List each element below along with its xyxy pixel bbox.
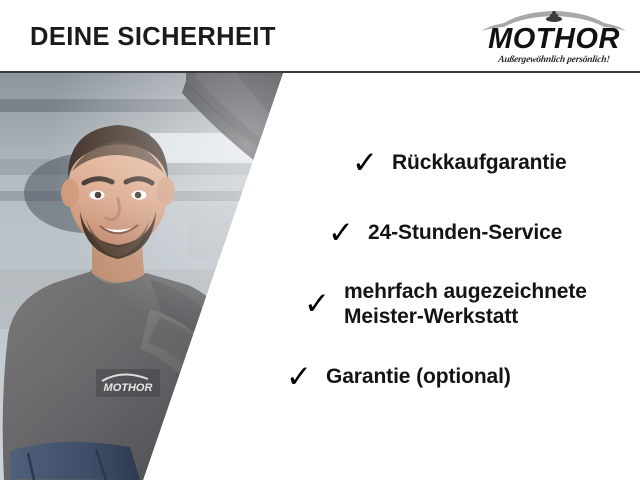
check-icon: ✓ <box>304 289 330 320</box>
logo-tagline: Außergewöhnlich persönlich! <box>477 55 630 65</box>
check-icon: ✓ <box>352 148 378 179</box>
header-bar: DEINE SICHERHEIT MOTHOR Außergewöhnlich … <box>0 0 640 72</box>
benefit-item-meister-werkstatt: ✓ mehrfach augezeichnete Meister-Werksta… <box>304 280 587 329</box>
benefit-item-garantie-optional: ✓ Garantie (optional) <box>286 362 511 393</box>
benefit-list: ✓ Rückkaufgarantie ✓ 24-Stunden-Service … <box>280 130 640 430</box>
benefit-item-rueckkaufgarantie: ✓ Rückkaufgarantie <box>352 148 567 179</box>
page-title: DEINE SICHERHEIT <box>30 23 276 52</box>
benefit-label: Rückkaufgarantie <box>392 151 567 176</box>
check-icon: ✓ <box>286 362 312 393</box>
check-icon: ✓ <box>328 218 354 249</box>
benefit-label: mehrfach augezeichnete Meister-Werkstatt <box>344 280 587 329</box>
benefit-label: 24-Stunden-Service <box>368 221 562 246</box>
brand-logo[interactable]: MOTHOR Außergewöhnlich persönlich! <box>478 8 630 68</box>
promo-banner: MOTHOR DEINE SICHERHEIT MOTHOR Außergewö… <box>0 0 640 480</box>
header-divider <box>0 71 640 73</box>
logo-wordmark: MOTHOR <box>478 25 630 54</box>
benefit-item-24-stunden-service: ✓ 24-Stunden-Service <box>328 218 562 249</box>
benefit-label: Garantie (optional) <box>326 365 511 390</box>
